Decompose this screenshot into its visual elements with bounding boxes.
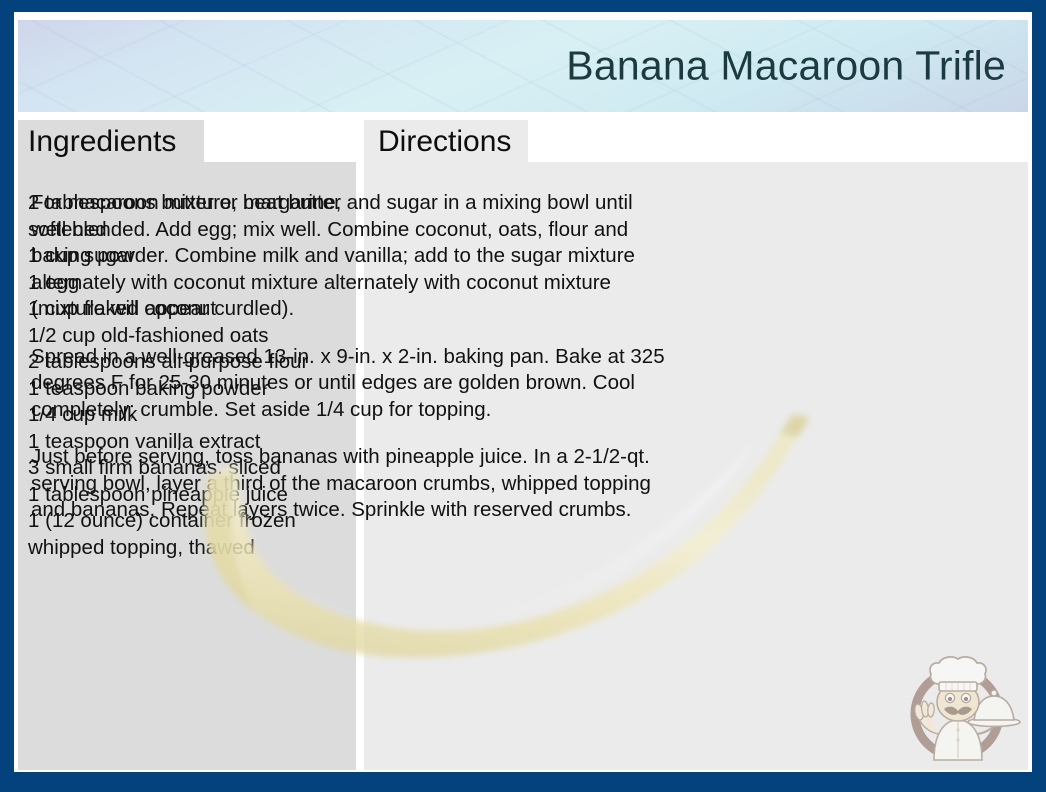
directions-body: For macaroon mixture, beat butter and su… xyxy=(31,190,671,545)
recipe-card: Banana Macaroon Trifle Ingredients Direc… xyxy=(0,0,1046,792)
direction-paragraph: Just before serving, toss bananas with p… xyxy=(31,444,671,524)
ingredients-heading: Ingredients xyxy=(28,125,176,159)
directions-header-tab: Directions xyxy=(364,120,528,164)
direction-paragraph: For macaroon mixture, beat butter and su… xyxy=(31,190,671,323)
ingredients-header-tab: Ingredients xyxy=(18,120,204,164)
direction-paragraph: Spread in a well-greased 13-in. x 9-in. … xyxy=(31,344,671,424)
directions-heading: Directions xyxy=(378,125,511,159)
page-title: Banana Macaroon Trifle xyxy=(566,43,1006,90)
title-banner: Banana Macaroon Trifle xyxy=(18,20,1028,112)
